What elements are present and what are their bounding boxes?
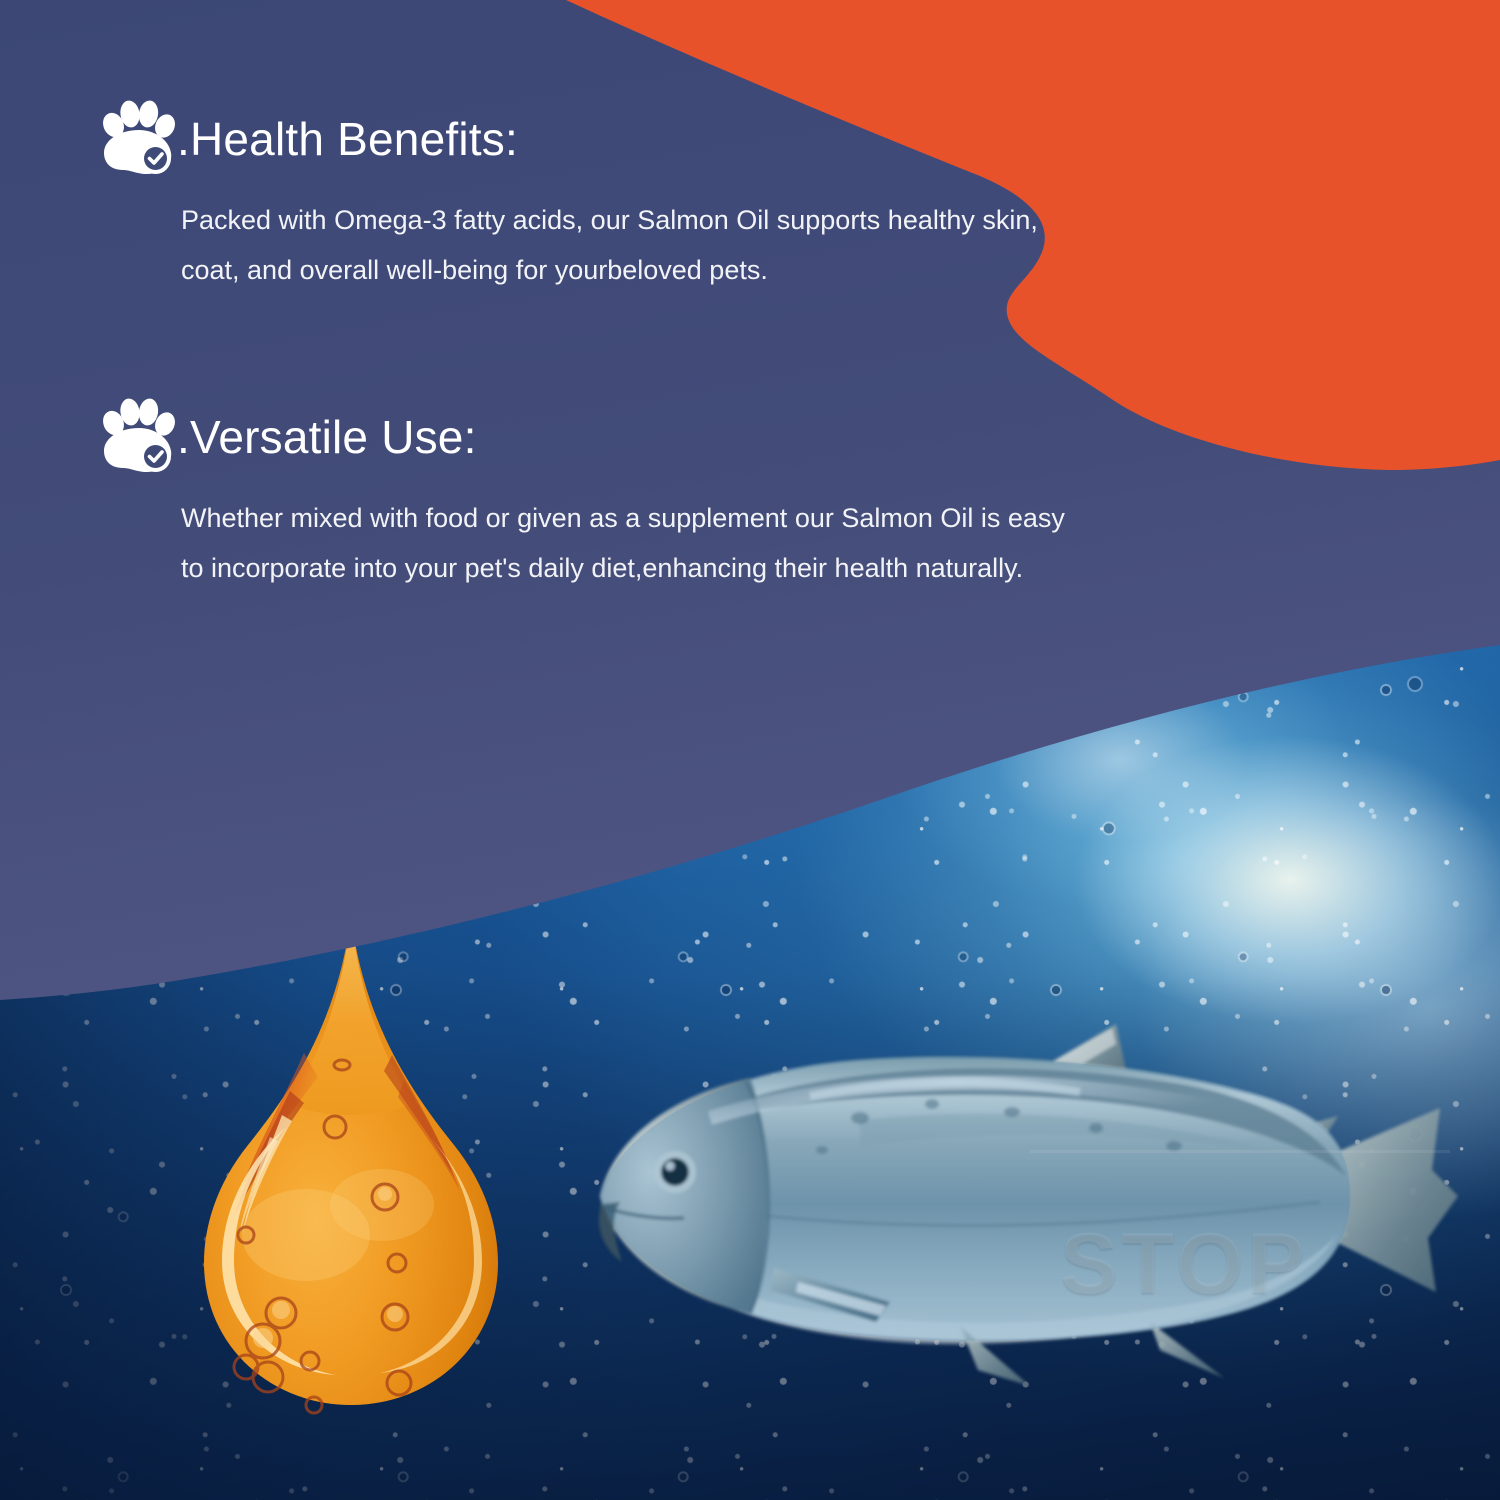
section-versatile-use: .Versatile Use: Whether mixed with food …: [95, 398, 1065, 594]
body-line: Whether mixed with food or given as a su…: [181, 494, 1065, 544]
heading-row: .Health Benefits:: [95, 100, 1038, 178]
section-heading: .Health Benefits:: [177, 116, 518, 162]
body-line: to incorporate into your pet's daily die…: [181, 544, 1065, 594]
section-body: Whether mixed with food or given as a su…: [181, 494, 1065, 594]
body-line: Packed with Omega-3 fatty acids, our Sal…: [181, 196, 1038, 246]
paw-check-icon: [95, 398, 181, 476]
section-body: Packed with Omega-3 fatty acids, our Sal…: [181, 196, 1038, 296]
section-health-benefits: .Health Benefits: Packed with Omega-3 fa…: [95, 100, 1038, 296]
paw-check-icon: [95, 100, 181, 178]
section-heading: .Versatile Use:: [177, 414, 477, 460]
infographic-canvas: STOP: [0, 0, 1500, 1500]
content-area: .Health Benefits: Packed with Omega-3 fa…: [0, 0, 1500, 700]
heading-row: .Versatile Use:: [95, 398, 1065, 476]
body-line: coat, and overall well-being for yourbel…: [181, 246, 1038, 296]
